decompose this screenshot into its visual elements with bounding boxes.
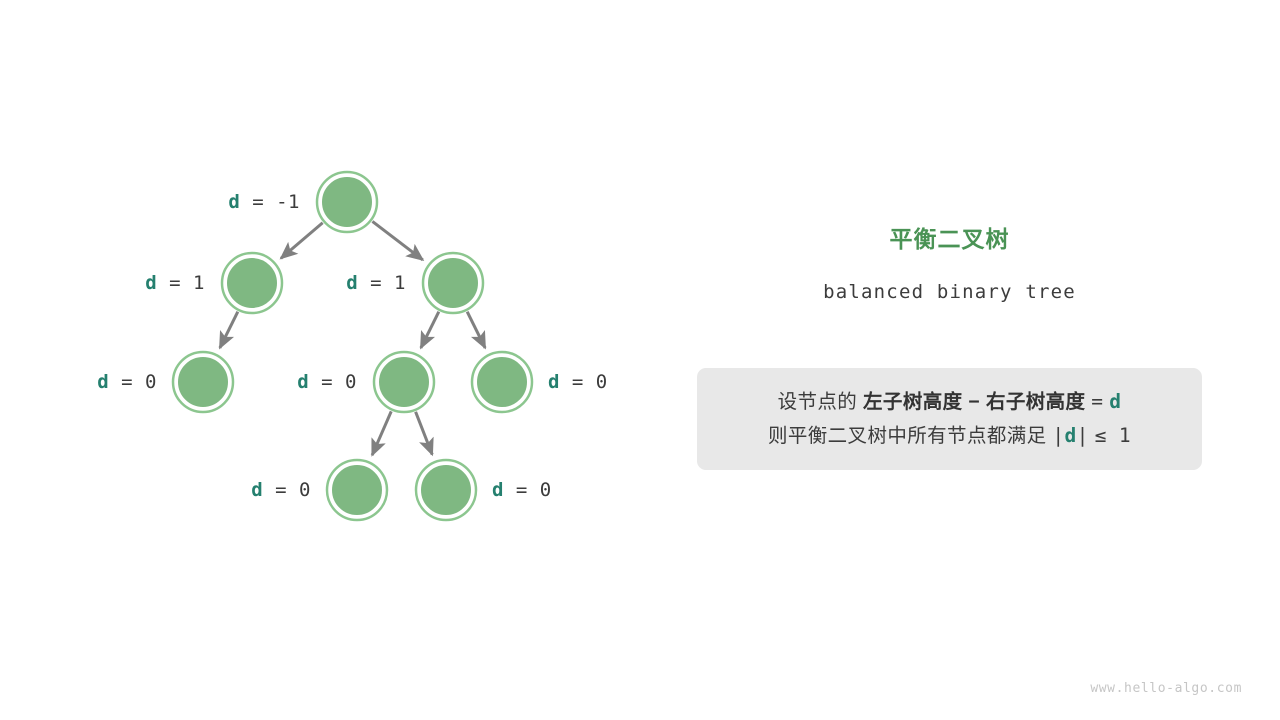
tree-node[interactable] — [317, 172, 377, 232]
balance-variable: d — [251, 479, 263, 501]
tree-edge — [416, 412, 433, 455]
tree-node[interactable] — [374, 352, 434, 412]
tree-edges — [220, 221, 485, 455]
page-subtitle: balanced binary tree — [697, 281, 1202, 303]
tree-node[interactable] — [327, 460, 387, 520]
balance-variable: d — [228, 191, 240, 213]
balance-value: = 0 — [309, 371, 357, 393]
definition-prefix-1: 设节点的 — [778, 391, 858, 413]
node-circle — [476, 356, 528, 408]
tree-edge — [467, 312, 485, 348]
node-balance-label: d = 1 — [145, 272, 205, 294]
tree-edge — [372, 221, 422, 260]
tree-node[interactable] — [222, 253, 282, 313]
node-circle — [420, 464, 472, 516]
tree-node[interactable] — [173, 352, 233, 412]
tree-edge — [421, 312, 439, 348]
definition-line-2: 则平衡二叉树中所有节点都满足 |d| ≤ 1 — [697, 419, 1202, 453]
definition-relation: ≤ 1 — [1095, 424, 1131, 447]
node-balance-label: d = 0 — [492, 479, 552, 501]
balance-value: = 0 — [263, 479, 311, 501]
balance-variable: d — [145, 272, 157, 294]
balance-value: = 0 — [109, 371, 157, 393]
balance-value: = 1 — [358, 272, 406, 294]
definition-prefix-2: 则平衡二叉树中所有节点都满足 — [768, 425, 1047, 447]
concept-panel: 平衡二叉树 balanced binary tree 设节点的 左子树高度 − … — [697, 225, 1202, 303]
node-balance-label: d = 0 — [251, 479, 311, 501]
tree-edge — [372, 411, 391, 455]
balance-value: = 0 — [560, 371, 608, 393]
node-circle — [177, 356, 229, 408]
tree-edge — [220, 312, 238, 348]
node-balance-label: d = 1 — [346, 272, 406, 294]
abs-open-bar: | — [1052, 424, 1064, 447]
balance-variable: d — [297, 371, 309, 393]
abs-close-bar: | — [1077, 424, 1089, 447]
tree-edge — [281, 223, 323, 259]
balance-variable: d — [346, 272, 358, 294]
node-circle — [427, 257, 479, 309]
node-circle — [378, 356, 430, 408]
balance-value: = 1 — [157, 272, 205, 294]
node-circle — [226, 257, 278, 309]
diagram-canvas: d = -1d = 1d = 1d = 0d = 0d = 0d = 0d = … — [0, 0, 1280, 720]
node-circle — [331, 464, 383, 516]
balance-variable: d — [492, 479, 504, 501]
definition-variable-1: d — [1109, 390, 1121, 413]
tree-node[interactable] — [472, 352, 532, 412]
definition-box: 设节点的 左子树高度 − 右子树高度 = d 则平衡二叉树中所有节点都满足 |d… — [697, 368, 1202, 470]
balance-variable: d — [548, 371, 560, 393]
definition-equals-1: = — [1091, 390, 1103, 413]
tree-node[interactable] — [416, 460, 476, 520]
balance-variable: d — [97, 371, 109, 393]
definition-variable-2: d — [1065, 424, 1077, 447]
balance-value: = 0 — [504, 479, 552, 501]
node-balance-label: d = -1 — [228, 191, 300, 213]
page-title: 平衡二叉树 — [697, 225, 1202, 255]
binary-tree-graphic — [0, 0, 1280, 720]
node-balance-label: d = 0 — [97, 371, 157, 393]
tree-nodes — [173, 172, 532, 520]
definition-line-1: 设节点的 左子树高度 − 右子树高度 = d — [697, 385, 1202, 419]
site-watermark: www.hello-algo.com — [1090, 681, 1242, 696]
tree-node[interactable] — [423, 253, 483, 313]
node-balance-label: d = 0 — [297, 371, 357, 393]
node-circle — [321, 176, 373, 228]
node-balance-label: d = 0 — [548, 371, 608, 393]
definition-strong-1: 左子树高度 − 右子树高度 — [863, 391, 1085, 413]
balance-value: = -1 — [240, 191, 300, 213]
